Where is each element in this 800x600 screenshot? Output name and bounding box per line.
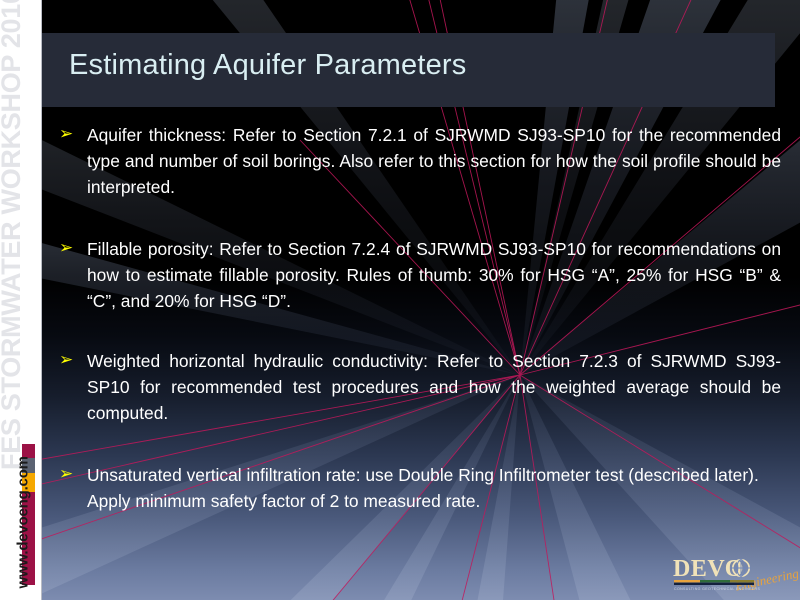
event-title-vertical: FES STORMWATER WORKSHOP 2010 — [0, 0, 29, 470]
list-item: ➢ Unsaturated vertical infiltration rate… — [57, 462, 781, 514]
devo-logo: DEVO Engineering CONSULTING GEOTECHNICAL… — [673, 556, 785, 596]
list-item: ➢ Aquifer thickness: Refer to Section 7.… — [57, 122, 781, 200]
arrow-bullet-icon: ➢ — [59, 465, 77, 483]
logo-tagline: CONSULTING GEOTECHNICAL ENGINEERS — [674, 587, 760, 591]
arrow-bullet-icon: ➢ — [59, 351, 77, 369]
list-item: ➢ Weighted horizontal hydraulic conducti… — [57, 348, 781, 426]
slide: Estimating Aquifer Parameters ➢ Aquifer … — [0, 0, 800, 600]
logo-accent-bars — [674, 580, 754, 585]
branding-sidebar: FES STORMWATER WORKSHOP 2010 www.devoeng… — [0, 0, 42, 600]
list-item-text: Aquifer thickness: Refer to Section 7.2.… — [87, 122, 781, 200]
page-title: Estimating Aquifer Parameters — [69, 49, 466, 82]
arrow-bullet-icon: ➢ — [59, 239, 77, 257]
arrow-bullet-icon: ➢ — [59, 125, 77, 143]
bullet-list: ➢ Aquifer thickness: Refer to Section 7.… — [57, 122, 781, 514]
website-url-vertical[interactable]: www.devoeng.com — [15, 449, 32, 589]
list-item-text: Fillable porosity: Refer to Section 7.2.… — [87, 236, 781, 314]
list-item-text: Weighted horizontal hydraulic conductivi… — [87, 348, 781, 426]
title-band: Estimating Aquifer Parameters — [41, 33, 775, 107]
list-item-text: Unsaturated vertical infiltration rate: … — [87, 462, 781, 514]
list-item: ➢ Fillable porosity: Refer to Section 7.… — [57, 236, 781, 314]
